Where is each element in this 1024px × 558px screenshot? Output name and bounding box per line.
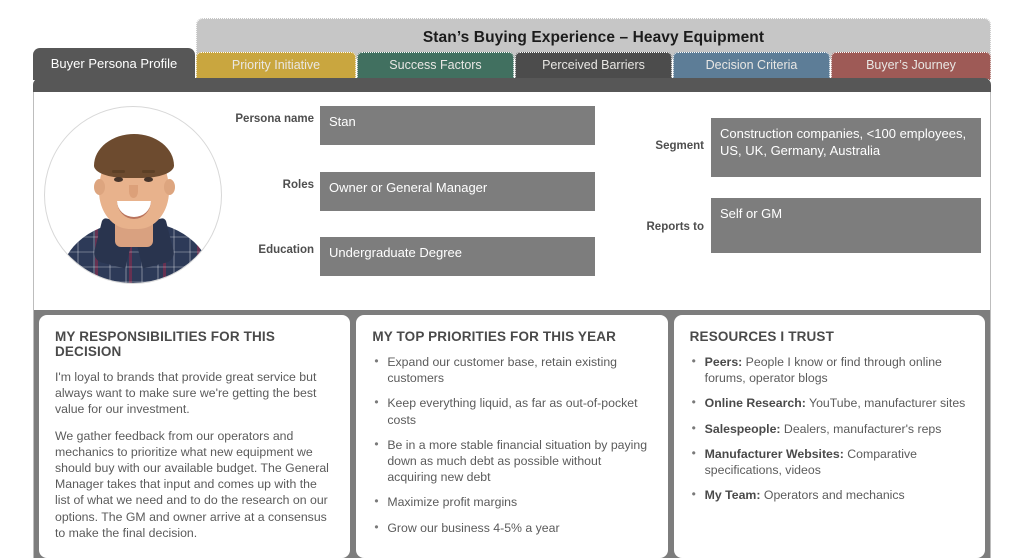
avatar-ear-right-icon	[164, 179, 175, 195]
tab-perceived-barriers[interactable]: Perceived Barriers	[515, 52, 672, 80]
panel-title: MY RESPONSIBILITIES FOR THIS DECISION	[55, 329, 334, 359]
list-item-text: Keep everything liquid, as far as out-of…	[387, 396, 637, 426]
list-item: Peers: People I know or find through onl…	[690, 354, 969, 386]
field-label-segment: Segment	[614, 140, 704, 152]
list-item-text: Grow our business 4-5% a year	[387, 521, 559, 535]
list-item-text: YouTube, manufacturer sites	[806, 396, 966, 410]
avatar-eye-right-icon	[144, 177, 153, 182]
tab-buyer-persona-profile[interactable]: Buyer Persona Profile	[33, 48, 195, 80]
tab-header: Stan’s Buying Experience – Heavy Equipme…	[0, 0, 1024, 100]
tab-decision-criteria[interactable]: Decision Criteria	[673, 52, 830, 80]
list-item: Expand our customer base, retain existin…	[372, 354, 651, 386]
tab-buyer-persona-profile-label: Buyer Persona Profile	[33, 56, 195, 71]
avatar-eye-left-icon	[114, 177, 123, 182]
avatar-ear-left-icon	[94, 179, 105, 195]
list-item-text: Operators and mechanics	[760, 488, 904, 502]
tab-label: Success Factors	[358, 58, 513, 72]
field-value-roles[interactable]: Owner or General Manager	[320, 172, 595, 211]
field-value-reports-to[interactable]: Self or GM	[711, 198, 981, 253]
panel-title: RESOURCES I TRUST	[690, 329, 969, 344]
list-item-lead: Manufacturer Websites:	[705, 447, 844, 461]
field-value-persona-name[interactable]: Stan	[320, 106, 595, 145]
panel-bullet-list: Expand our customer base, retain existin…	[372, 354, 651, 536]
persona-body-card: Persona nameStanRolesOwner or General Ma…	[33, 92, 991, 558]
avatar	[44, 106, 222, 284]
field-label-roles: Roles	[209, 179, 314, 191]
tab-label: Decision Criteria	[674, 58, 829, 72]
panel-bullet-list: Peers: People I know or find through onl…	[690, 354, 969, 503]
panel-paragraph: We gather feedback from our operators an…	[55, 428, 334, 541]
panel-paragraph: I'm loyal to brands that provide great s…	[55, 369, 334, 418]
list-item-text: Dealers, manufacturer's reps	[781, 422, 942, 436]
panel-my-responsibilities-for-this-decision: MY RESPONSIBILITIES FOR THIS DECISIONI'm…	[39, 315, 350, 558]
page-title: Stan’s Buying Experience – Heavy Equipme…	[197, 29, 990, 47]
persona-summary-area: Persona nameStanRolesOwner or General Ma…	[34, 92, 990, 308]
list-item: Be in a more stable financial situation …	[372, 437, 651, 486]
field-label-education: Education	[209, 244, 314, 256]
tab-success-factors[interactable]: Success Factors	[357, 52, 514, 80]
tab-label: Perceived Barriers	[516, 58, 671, 72]
list-item: Grow our business 4-5% a year	[372, 520, 651, 536]
panel-my-top-priorities-for-this-year: MY TOP PRIORITIES FOR THIS YEARExpand ou…	[356, 315, 667, 558]
field-label-persona-name: Persona name	[209, 113, 314, 125]
avatar-brow-right-icon	[142, 170, 155, 173]
field-value-education[interactable]: Undergraduate Degree	[320, 237, 595, 276]
tab-buyer-s-journey[interactable]: Buyer’s Journey	[831, 52, 991, 80]
list-item-lead: My Team:	[705, 488, 761, 502]
list-item-lead: Salespeople:	[705, 422, 781, 436]
list-item-text: Be in a more stable financial situation …	[387, 438, 647, 484]
list-item: My Team: Operators and mechanics	[690, 487, 969, 503]
tab-label: Priority Initiative	[197, 58, 355, 72]
list-item: Maximize profit margins	[372, 494, 651, 510]
list-item-lead: Online Research:	[705, 396, 806, 410]
avatar-brow-left-icon	[112, 170, 125, 173]
detail-panels: MY RESPONSIBILITIES FOR THIS DECISIONI'm…	[34, 310, 990, 558]
field-label-reports-to: Reports to	[614, 221, 704, 233]
list-item-text: Expand our customer base, retain existin…	[387, 355, 617, 385]
list-item: Keep everything liquid, as far as out-of…	[372, 395, 651, 427]
field-value-segment[interactable]: Construction companies, <100 employees, …	[711, 118, 981, 177]
tab-priority-initiative[interactable]: Priority Initiative	[196, 52, 356, 80]
list-item: Salespeople: Dealers, manufacturer's rep…	[690, 421, 969, 437]
avatar-hair-icon	[94, 134, 174, 178]
avatar-nose-icon	[129, 185, 138, 198]
list-item-text: Maximize profit margins	[387, 495, 517, 509]
panel-resources-i-trust: RESOURCES I TRUSTPeers: People I know or…	[674, 315, 985, 558]
list-item-lead: Peers:	[705, 355, 743, 369]
list-item: Manufacturer Websites: Comparative speci…	[690, 446, 969, 478]
tab-label: Buyer’s Journey	[832, 58, 990, 72]
panel-title: MY TOP PRIORITIES FOR THIS YEAR	[372, 329, 651, 344]
list-item: Online Research: YouTube, manufacturer s…	[690, 395, 969, 411]
